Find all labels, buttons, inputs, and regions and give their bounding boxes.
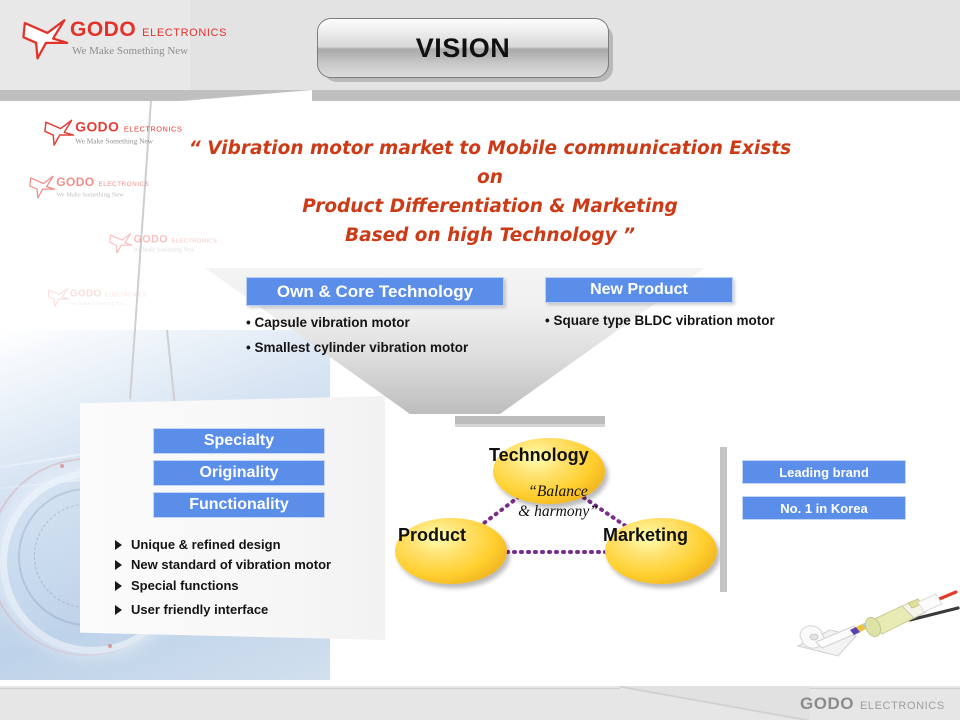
slide-canvas: GODO ELECTRONICS We Make Something New G… xyxy=(0,0,960,720)
attribute-bullet-label: User friendly interface xyxy=(131,602,268,617)
triangle-bullet-icon xyxy=(115,540,122,550)
list-item: • Capsule vibration motor xyxy=(246,310,468,335)
vibration-motor-illustration xyxy=(790,586,960,676)
page-title: VISION xyxy=(317,18,609,78)
balance-triangle-diagram: Technology Product Marketing “Balance & … xyxy=(390,430,720,590)
vision-quote-line-2: Product Differentiation & Marketing xyxy=(180,192,800,221)
butterfly-icon xyxy=(44,119,75,151)
funnel-base-bar xyxy=(455,416,605,424)
vision-quote-line-3: Based on high Technology ” xyxy=(180,221,800,250)
brand-box-no1-korea: No. 1 in Korea xyxy=(742,496,906,520)
header-band-notch xyxy=(182,90,312,101)
triangle-bullet-icon xyxy=(115,605,122,615)
footer-logo-subtitle: ELECTRONICS xyxy=(860,700,945,712)
butterfly-icon xyxy=(22,18,70,67)
balance-harmony-caption: “Balance & harmony” xyxy=(488,482,628,522)
new-product-heading: New Product xyxy=(545,277,733,303)
vision-quote-line-1: “ Vibration motor market to Mobile commu… xyxy=(180,134,800,192)
brand-box-label: Leading brand xyxy=(779,465,869,480)
attribute-box-originality: Originality xyxy=(153,460,325,486)
attribute-bullet: User friendly interface xyxy=(115,602,385,617)
core-technology-heading-label: Own & Core Technology xyxy=(277,282,473,302)
header-band-right xyxy=(312,90,960,101)
logo-name: GODO xyxy=(70,18,136,42)
attribute-bullet: Special functions xyxy=(115,578,385,593)
new-product-list: • Square type BLDC vibration motor xyxy=(545,308,775,333)
watermark-logo-1: GODO ELECTRONICS We Make Something New xyxy=(44,119,182,151)
attribute-box-specialty: Specialty xyxy=(153,428,325,454)
list-item: • Smallest cylinder vibration motor xyxy=(246,335,468,360)
footer-logo: GODO ELECTRONICS xyxy=(800,694,945,714)
footer-logo-name: GODO xyxy=(800,694,854,714)
butterfly-icon xyxy=(29,176,56,204)
page-title-label: VISION xyxy=(416,33,511,64)
new-product-heading-label: New Product xyxy=(590,281,688,299)
attribute-label: Originality xyxy=(199,464,278,482)
funnel-base-bar-shadow xyxy=(455,424,605,427)
company-logo: GODO ELECTRONICS We Make Something New xyxy=(22,18,227,67)
node-product-label: Product xyxy=(398,525,466,546)
logo-tagline: We Make Something New xyxy=(72,45,227,57)
brand-box-leading-brand: Leading brand xyxy=(742,460,906,484)
attribute-bullet: Unique & refined design xyxy=(115,537,385,552)
butterfly-icon xyxy=(48,288,70,311)
attribute-label: Specialty xyxy=(204,432,274,450)
logo-subtitle: ELECTRONICS xyxy=(142,27,227,39)
attribute-bullet-label: Special functions xyxy=(131,578,239,593)
attribute-label: Functionality xyxy=(189,496,289,514)
triangle-bullet-icon xyxy=(115,560,122,570)
vertical-divider xyxy=(720,447,727,592)
core-technology-list: • Capsule vibration motor • Smallest cyl… xyxy=(246,310,468,360)
vision-quote: “ Vibration motor market to Mobile commu… xyxy=(180,134,800,250)
attribute-box-functionality: Functionality xyxy=(153,492,325,518)
footer-angle-accent xyxy=(620,686,810,720)
attribute-bullet-label: Unique & refined design xyxy=(131,537,281,552)
attribute-bullet: New standard of vibration motor xyxy=(115,557,385,572)
node-technology-label: Technology xyxy=(489,445,589,466)
butterfly-icon xyxy=(109,233,133,258)
triangle-bullet-icon xyxy=(115,581,122,591)
attribute-bullet-label: New standard of vibration motor xyxy=(131,557,331,572)
watermark-logo-4: GODO ELECTRONICS We Make Something New xyxy=(48,288,147,311)
core-technology-heading: Own & Core Technology xyxy=(246,277,504,306)
balance-caption-line-2: & harmony” xyxy=(488,502,628,522)
list-item: • Square type BLDC vibration motor xyxy=(545,308,775,333)
brand-box-label: No. 1 in Korea xyxy=(780,501,867,516)
node-marketing-label: Marketing xyxy=(603,525,688,546)
watermark-logo-2: GODO ELECTRONICS We Make Something New xyxy=(29,176,149,204)
footer-divider xyxy=(0,688,960,689)
balance-caption-line-1: “Balance xyxy=(488,482,628,502)
